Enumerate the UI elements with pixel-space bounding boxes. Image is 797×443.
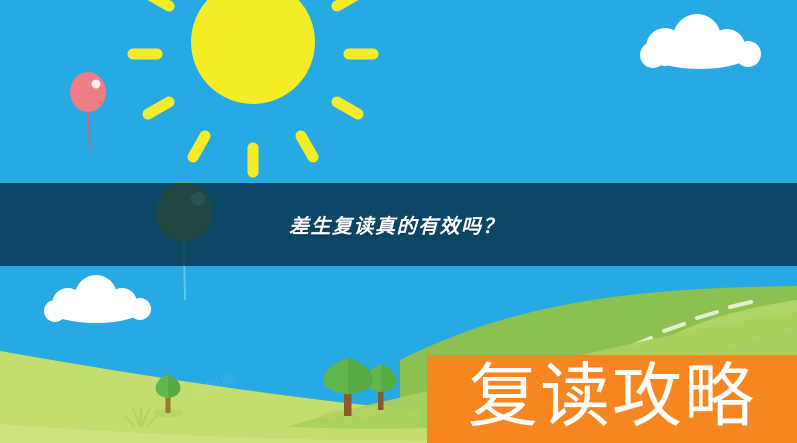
sun-icon [133,0,373,172]
balloon-pink-icon [70,72,106,150]
page-title: 差生复读真的有效吗？ [289,210,504,239]
poster-canvas: 易图网 易图网 易图网 差生复读真的有效吗？ 复读攻略 [0,0,797,443]
cloud-icon-mid-left [44,275,151,323]
orange-tag-banner: 复读攻略 [427,355,797,443]
title-banner: 易图网 易图网 易图网 差生复读真的有效吗？ [0,183,797,266]
orange-tag-label: 复读攻略 [468,363,756,433]
cloud-icon-top-right [640,14,761,69]
tree-large-center-icon [322,358,374,422]
